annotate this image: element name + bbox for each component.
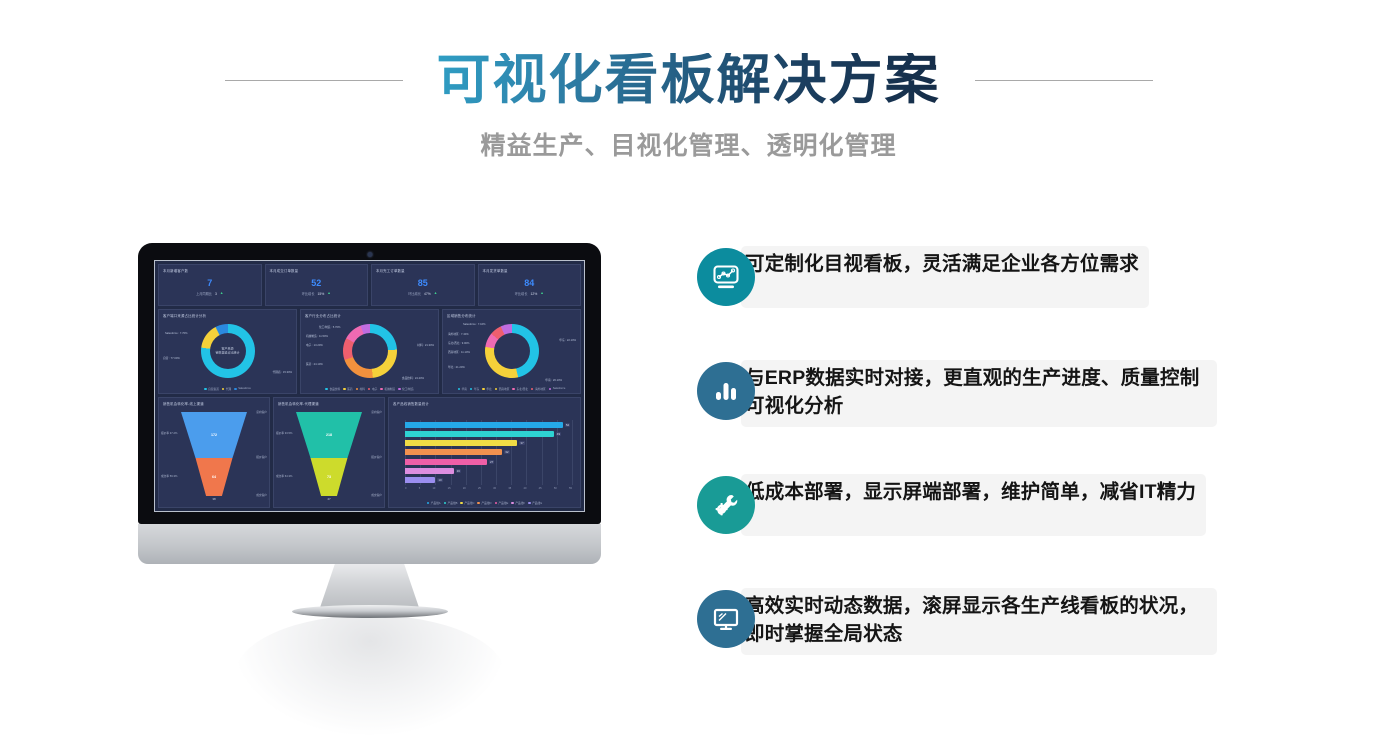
feature-text-panel: 低成本部署，显示屏端部署，维护简单，减省IT精力 — [741, 474, 1206, 536]
legend-color-swatch — [495, 502, 498, 505]
funnel-chart: 172 64 — [181, 412, 247, 496]
bar-value-label: 16 — [456, 469, 461, 473]
bar-series: 52 49 37 32 27 16 10 — [405, 420, 572, 485]
legend-item: 自营渠道 — [204, 387, 219, 391]
bar-row: 10 — [405, 477, 572, 483]
donut-slice-label: 代理商 : 15.30% — [273, 370, 292, 374]
donut-slice-label: 自营 : 77.00% — [163, 356, 180, 360]
kpi-card[interactable]: 本月发货单数量 84 环比增长 12% ▲ — [478, 264, 582, 306]
funnel-segment: 172 — [181, 412, 247, 458]
legend-color-swatch — [458, 388, 461, 391]
funnel-chart: 218 73 — [296, 412, 362, 496]
funnel-segment: 64 — [181, 458, 247, 496]
bar-row: 27 — [405, 459, 572, 465]
kpi-title: 本月成交订单数量 — [270, 268, 299, 273]
funnel-segment: 73 — [296, 458, 362, 496]
legend-label: 电子 — [372, 387, 377, 391]
legend-color-swatch — [204, 388, 207, 391]
kpi-sub-label: 环比增长 — [302, 291, 315, 296]
funnel-rate-label: 成交率 64.3% — [276, 474, 292, 478]
donut-row: 客户端口来源占比统计分析 客户来源 销售渠道占比统计 Salesforce : … — [158, 309, 581, 394]
legend-item: 产品线G — [528, 501, 542, 505]
monitor-bezel: 本月新增客户数 7 上月同期比 3 ▲ 本月成交订单数量 52 — [138, 243, 601, 524]
legend-color-swatch — [511, 502, 514, 505]
legend-label: Salesforce — [238, 387, 251, 390]
kpi-title: 本月新增客户数 — [163, 268, 188, 273]
legend-label: 华南 — [462, 387, 467, 391]
kpi-sub-label: 环比增长 — [515, 291, 528, 296]
donut-center-line: 销售渠道占比统计 — [211, 351, 245, 355]
axis-tick-label: 50 — [554, 487, 557, 493]
kpi-value: 7 — [207, 279, 212, 288]
donut-slice-label: 华北 : 21.20% — [448, 365, 465, 369]
monitor-linechart-icon — [697, 248, 755, 306]
chart-title: 区域销售分布统计 — [447, 313, 476, 318]
donut-slice-label: 材料 : 21.30% — [417, 343, 434, 347]
donut-chart-panel[interactable]: 客户端口来源占比统计分析 客户来源 销售渠道占比统计 Salesforce : … — [158, 309, 297, 394]
feature-text: 高效实时动态数据，滚屏显示各生产线看板的状况，即时掌握全局状态 — [745, 592, 1207, 649]
legend-color-swatch — [528, 502, 531, 505]
legend-label: 自营渠道 — [208, 387, 219, 391]
legend-label: 海外地区 — [535, 387, 546, 391]
legend-item: 产品线A — [427, 501, 441, 505]
donut-chart-panel[interactable]: 区域销售分布统计 Salesforce : 7.10% 海外地区 : 7.40%… — [442, 309, 581, 394]
bar-value-label: 37 — [519, 441, 524, 445]
legend-color-swatch — [234, 388, 237, 391]
legend-label: 西南地区 — [499, 387, 510, 391]
legend-item: 机械制造 — [380, 387, 395, 391]
trend-up-icon: ▲ — [540, 292, 544, 296]
donut-slice-label: 东北/西北 : 9.00% — [448, 341, 469, 345]
axis-tick-label: 10 — [432, 487, 435, 493]
funnel-rate-label: 报价率 33.5% — [276, 431, 292, 435]
bar-value-label: 49 — [556, 432, 561, 436]
chart-legend: 华南 华东 华北 西南地区 东北/西北 海外地区 Salesforce — [443, 387, 580, 391]
funnel-rate-label: 成交率 59.3% — [161, 474, 177, 478]
feature-list: 可定制化目视看板，灵活满足企业各方位需求 与ERP数据实时对接，更直观的生产进度… — [697, 246, 1217, 664]
legend-label: 产品线A — [431, 501, 441, 505]
bar-chart: 52 49 37 32 27 16 10 — [405, 420, 572, 485]
legend-item: 产品线B — [444, 501, 458, 505]
kpi-sub-label: 上月同期比 — [196, 291, 212, 296]
legend-label: 产品线E — [499, 501, 509, 505]
bar-fill — [405, 477, 435, 483]
axis-tick-label: 20 — [463, 487, 466, 493]
feature-item-2[interactable]: 与ERP数据实时对接，更直观的生产进度、质量控制可视化分析 — [697, 360, 1217, 436]
feature-text: 与ERP数据实时对接，更直观的生产进度、质量控制可视化分析 — [745, 364, 1207, 421]
legend-item: 华北 — [482, 387, 491, 391]
legend-item: 化工/制造 — [398, 387, 414, 391]
kpi-sub-value: 15% — [317, 292, 324, 296]
axis-tick-label: 55 — [569, 487, 572, 493]
legend-item: 产品线E — [495, 501, 509, 505]
legend-color-swatch — [477, 502, 480, 505]
kpi-title: 本月发货单数量 — [483, 268, 508, 273]
dashboard: 本月新增客户数 7 上月同期比 3 ▲ 本月成交订单数量 52 — [155, 261, 584, 511]
feature-item-3[interactable]: 低成本部署，显示屏端部署，维护简单，减省IT精力 — [697, 474, 1217, 550]
chart-title: 销售机会转化率-代理渠道 — [278, 401, 319, 406]
legend-label: Salesforce — [553, 387, 566, 390]
bar-fill — [405, 468, 454, 474]
page-subtitle: 精益生产、目视化管理、透明化管理 — [0, 126, 1377, 162]
gridline — [572, 420, 573, 485]
bar-row: 49 — [405, 431, 572, 437]
chart-title: 销售机会转化率-线上渠道 — [163, 401, 204, 406]
legend-item: Salesforce — [549, 387, 566, 391]
feature-text-panel: 高效实时动态数据，滚屏显示各生产线看板的状况，即时掌握全局状态 — [741, 588, 1217, 655]
funnel-chart-panel[interactable]: 销售机会转化率-代理渠道 218 73 意向客户 报价客户 — [273, 397, 385, 508]
kpi-card[interactable]: 本月新增客户数 7 上月同期比 3 ▲ — [158, 264, 262, 306]
donut-chart — [485, 324, 539, 378]
chart-title: 各产品线销售数量统计 — [393, 401, 429, 406]
kpi-sub-value: 3 — [215, 292, 217, 296]
funnel-value: 172 — [211, 433, 217, 437]
bar-chart-panel[interactable]: 各产品线销售数量统计 52 49 37 32 27 16 — [388, 397, 581, 508]
chart-legend: 产品线A 产品线B 产品线C 产品线D 产品线E 产品线F 产品线G — [389, 501, 580, 505]
display-screen-icon — [697, 590, 755, 648]
bar-row: 52 — [405, 422, 572, 428]
funnel-value: 64 — [212, 475, 216, 479]
chart-legend: 食品饮料 医药 材料 电子 机械制造 化工/制造 — [301, 387, 438, 391]
funnel-stage-label: 报价客户 — [371, 455, 382, 459]
kpi-sub: 环比增长 12% ▲ — [515, 291, 544, 296]
legend-label: 产品线D — [481, 501, 491, 505]
axis-tick-label: 25 — [478, 487, 481, 493]
bar-chart-icon — [697, 362, 755, 420]
legend-item: 食品饮料 — [325, 387, 340, 391]
legend-label: 机械制造 — [384, 387, 395, 391]
donut-slice-label: Salesforce : 7.70% — [165, 332, 188, 335]
monitor-screen: 本月新增客户数 7 上月同期比 3 ▲ 本月成交订单数量 52 — [154, 260, 585, 512]
legend-label: 材料 — [360, 387, 365, 391]
decorative-line-right — [975, 80, 1153, 81]
funnel-stage-label: 报价客户 — [256, 455, 267, 459]
legend-item: 代理 — [222, 387, 231, 391]
funnel-stage-label: 成交客户 — [256, 493, 267, 497]
decorative-line-left — [225, 80, 403, 81]
donut-chart: 客户来源 销售渠道占比统计 — [201, 324, 255, 378]
feature-item-1[interactable]: 可定制化目视看板，灵活满足企业各方位需求 — [697, 246, 1217, 322]
wrench-gear-icon — [697, 476, 755, 534]
legend-color-swatch — [398, 388, 401, 391]
bar-row: 16 — [405, 468, 572, 474]
monitor-shadow — [235, 615, 505, 735]
kpi-row: 本月新增客户数 7 上月同期比 3 ▲ 本月成交订单数量 52 — [158, 264, 581, 306]
legend-label: 华北 — [486, 387, 491, 391]
bar-fill — [405, 449, 502, 455]
kpi-sub: 环比增长 15% ▲ — [302, 291, 331, 296]
legend-item: 海外地区 — [531, 387, 546, 391]
legend-label: 化工/制造 — [402, 387, 414, 391]
legend-label: 医药 — [347, 387, 352, 391]
legend-item: 产品线D — [477, 501, 491, 505]
kpi-sub: 上月同期比 3 ▲ — [196, 291, 223, 296]
trend-up-icon: ▲ — [434, 292, 438, 296]
legend-item: 材料 — [356, 387, 365, 391]
legend-color-swatch — [380, 388, 383, 391]
donut-slice-label: Salesforce : 7.10% — [463, 323, 486, 326]
kpi-sub: 环比增长 47% ▲ — [408, 291, 437, 296]
legend-label: 产品线F — [515, 501, 525, 505]
legend-label: 华东 — [474, 387, 479, 391]
legend-color-swatch — [427, 502, 430, 505]
legend-item: 东北/西北 — [512, 387, 528, 391]
donut-slice-label: 化工/制造 : 5.70% — [319, 325, 340, 329]
legend-item: 西南地区 — [495, 387, 510, 391]
legend-item: 产品线F — [511, 501, 525, 505]
funnel-value: 73 — [327, 475, 331, 479]
feature-text-panel: 可定制化目视看板，灵活满足企业各方位需求 — [741, 246, 1149, 308]
bar-fill — [405, 440, 517, 446]
bar-value-label: 27 — [489, 460, 494, 464]
feature-text: 低成本部署，显示屏端部署，维护简单，减省IT精力 — [745, 478, 1196, 506]
funnel-final-value: 47 — [327, 497, 330, 501]
legend-item: Salesforce — [234, 387, 251, 391]
trend-up-icon: ▲ — [220, 292, 224, 296]
donut-chart — [343, 324, 397, 378]
legend-color-swatch — [222, 388, 225, 391]
bar-row: 32 — [405, 449, 572, 455]
bar-value-label: 32 — [504, 450, 509, 454]
donut-slice-label: 华东 : 22.10% — [559, 338, 576, 342]
donut-slice-label: 机械制造 : 11.50% — [306, 334, 328, 338]
funnel-chart-panel[interactable]: 销售机会转化率-线上渠道 172 64 意向客户 报价客户 — [158, 397, 270, 508]
legend-label: 东北/西北 — [516, 387, 528, 391]
kpi-title: 本月完工订单数量 — [376, 268, 405, 273]
page-header: 可视化看板解决方案 精益生产、目视化管理、透明化管理 — [0, 0, 1377, 190]
page-root: 可视化看板解决方案 精益生产、目视化管理、透明化管理 本月新增客户数 7 上月同… — [0, 0, 1377, 753]
donut-slice-label: 医药 : 24.10% — [306, 362, 323, 366]
monitor-chin — [138, 524, 601, 564]
funnel-value: 218 — [326, 433, 332, 437]
donut-slice-label: 海外地区 : 7.40% — [448, 332, 469, 336]
donut-slice-label: 华南 : 26.10% — [545, 378, 562, 382]
axis-tick-label: 35 — [508, 487, 511, 493]
legend-color-swatch — [356, 388, 359, 391]
legend-color-swatch — [444, 502, 447, 505]
axis-tick-label: 0 — [405, 487, 406, 493]
donut-slice-label: 食品饮料 : 24.20% — [402, 376, 424, 380]
bar-value-label: 10 — [437, 478, 442, 482]
chart-legend: 自营渠道 代理 Salesforce — [159, 387, 296, 391]
bar-fill — [405, 459, 487, 465]
legend-color-swatch — [343, 388, 346, 391]
kpi-value: 84 — [524, 279, 534, 288]
legend-color-swatch — [495, 388, 498, 391]
kpi-value: 52 — [311, 279, 321, 288]
legend-label: 代理 — [226, 387, 231, 391]
legend-item: 医药 — [343, 387, 352, 391]
kpi-value: 85 — [418, 279, 428, 288]
lower-row: 销售机会转化率-线上渠道 172 64 意向客户 报价客户 — [158, 397, 581, 508]
legend-color-swatch — [482, 388, 485, 391]
legend-label: 产品线G — [532, 501, 542, 505]
legend-item: 产品线C — [460, 501, 474, 505]
bar-row: 37 — [405, 440, 572, 446]
feature-text: 可定制化目视看板，灵活满足企业各方位需求 — [745, 250, 1139, 278]
funnel-final-value: 38 — [212, 497, 215, 501]
funnel-segment: 218 — [296, 412, 362, 458]
page-title: 可视化看板解决方案 — [437, 53, 941, 107]
bar-fill — [405, 422, 563, 428]
legend-color-swatch — [549, 388, 552, 391]
funnel-stage-label: 意向客户 — [256, 410, 267, 414]
feature-text-panel: 与ERP数据实时对接，更直观的生产进度、质量控制可视化分析 — [741, 360, 1217, 427]
legend-color-swatch — [512, 388, 515, 391]
legend-item: 电子 — [368, 387, 377, 391]
funnel-stage-label: 意向客户 — [371, 410, 382, 414]
axis-tick-label: 45 — [539, 487, 542, 493]
legend-label: 产品线B — [448, 501, 458, 505]
axis-tick-label: 30 — [493, 487, 496, 493]
donut-center-label: 客户来源 销售渠道占比统计 — [211, 348, 245, 356]
legend-label: 食品饮料 — [329, 387, 340, 391]
donut-slice-label: 电子 : 13.20% — [306, 343, 323, 347]
feature-item-4[interactable]: 高效实时动态数据，滚屏显示各生产线看板的状况，即时掌握全局状态 — [697, 588, 1217, 664]
kpi-sub-label: 环比增长 — [408, 291, 421, 296]
funnel-rate-label: 报价率 37.2% — [161, 431, 177, 435]
legend-color-swatch — [531, 388, 534, 391]
bar-value-label: 52 — [565, 423, 570, 427]
legend-item: 华东 — [470, 387, 479, 391]
legend-color-swatch — [325, 388, 328, 391]
trend-up-icon: ▲ — [327, 292, 331, 296]
axis-tick-label: 40 — [524, 487, 527, 493]
axis-tick-label: 5 — [419, 487, 420, 493]
kpi-card[interactable]: 本月成交订单数量 52 环比增长 15% ▲ — [265, 264, 369, 306]
legend-item: 华南 — [458, 387, 467, 391]
legend-color-swatch — [460, 502, 463, 505]
legend-color-swatch — [368, 388, 371, 391]
webcam-icon — [367, 252, 372, 257]
kpi-card[interactable]: 本月完工订单数量 85 环比增长 47% ▲ — [371, 264, 475, 306]
axis-tick-label: 15 — [448, 487, 451, 493]
funnel-stage-label: 成交客户 — [371, 493, 382, 497]
legend-label: 产品线C — [464, 501, 474, 505]
kpi-sub-value: 12% — [530, 292, 537, 296]
chart-title: 客户端口来源占比统计分析 — [163, 313, 206, 318]
legend-color-swatch — [470, 388, 473, 391]
donut-slice-label: 西南地区 : 11.10% — [448, 350, 470, 354]
bar-fill — [405, 431, 554, 437]
chart-title: 客户行业分布占比统计 — [305, 313, 341, 318]
title-row: 可视化看板解决方案 — [0, 44, 1377, 116]
donut-chart-panel[interactable]: 客户行业分布占比统计 化工/制造 : 5.70% 机械制造 : 11.50% 电… — [300, 309, 439, 394]
kpi-sub-value: 47% — [424, 292, 431, 296]
x-axis-ticks: 0510152025303540455055 — [405, 487, 572, 493]
monitor-mockup: 本月新增客户数 7 上月同期比 3 ▲ 本月成交订单数量 52 — [138, 243, 601, 673]
